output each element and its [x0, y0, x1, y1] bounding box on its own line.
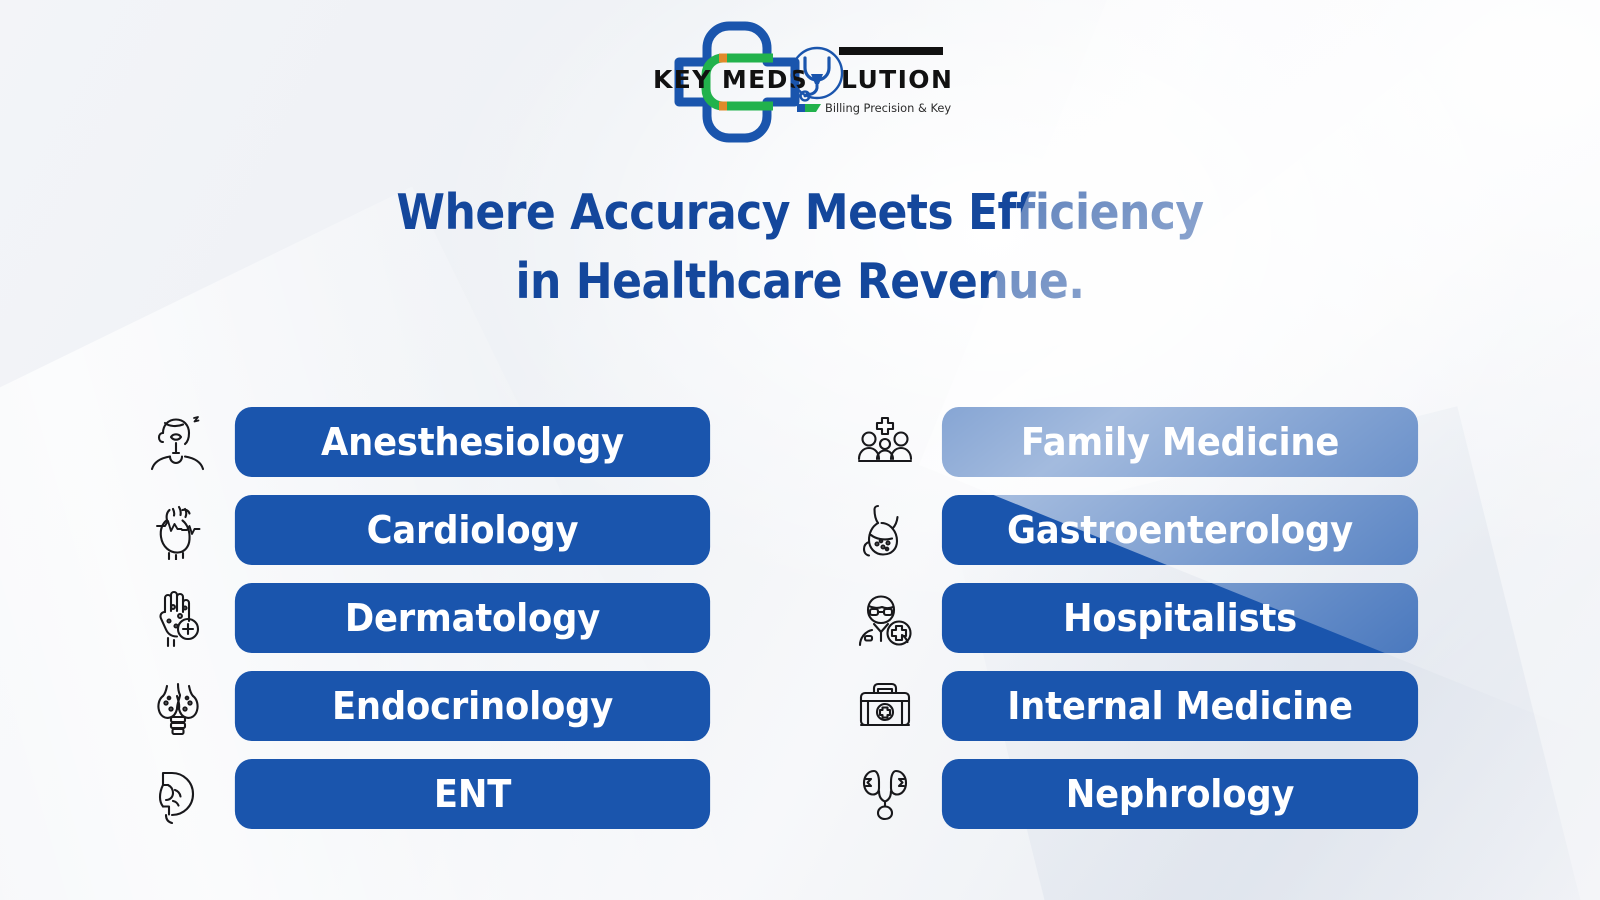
anesthesia-mask-patient-icon — [138, 406, 217, 478]
headline-line-1: Where Accuracy Meets Efficiency — [396, 184, 1203, 241]
specialty-row[interactable]: Internal Medicine — [845, 662, 1600, 750]
logo-wordmark-2: LUTIONS — [841, 65, 955, 94]
specialty-row[interactable]: Nephrology — [845, 750, 1600, 838]
specialty-row[interactable]: Hospitalists — [845, 574, 1600, 662]
specialty-label: Endocrinology — [332, 684, 613, 728]
specialty-label: Internal Medicine — [1007, 684, 1353, 728]
specialty-label: Anesthesiology — [321, 420, 624, 464]
specialty-pill-endocrinology[interactable]: Endocrinology — [235, 671, 710, 741]
specialty-row[interactable]: Cardiology — [138, 486, 800, 574]
specialty-label: Family Medicine — [1021, 420, 1339, 464]
logo-accent-bar — [839, 47, 943, 55]
specialty-row[interactable]: Gastroenterology — [845, 486, 1600, 574]
specialty-row[interactable]: Endocrinology — [138, 662, 800, 750]
slide-background: KEY MEDS LUTIONS Billing Precision & Key… — [0, 0, 1600, 900]
specialty-pill-cardiology[interactable]: Cardiology — [235, 495, 710, 565]
headline-line-2: in Healthcare Revenue. — [80, 247, 1520, 316]
specialty-label: ENT — [434, 772, 511, 816]
specialty-pill-gastroenterology[interactable]: Gastroenterology — [942, 495, 1418, 565]
specialty-column-right: Family Medicine — [800, 398, 1600, 838]
specialty-column-left: Anesthesiology Cardiology — [0, 398, 800, 838]
specialty-pill-hospitalists[interactable]: Hospitalists — [942, 583, 1418, 653]
ear-nose-throat-head-icon — [138, 758, 217, 830]
specialty-label: Nephrology — [1066, 772, 1295, 816]
heart-anatomy-icon — [138, 494, 217, 566]
doctor-medical-cross-icon — [845, 582, 924, 654]
logo-graphic: KEY MEDS LUTIONS Billing Precision & Key… — [645, 8, 955, 156]
kidneys-icon — [845, 758, 924, 830]
specialty-row[interactable]: Family Medicine — [845, 398, 1600, 486]
specialty-label: Gastroenterology — [1007, 508, 1353, 552]
specialty-grid: Anesthesiology Cardiology — [0, 398, 1600, 838]
logo-wordmark-1: KEY MEDS — [653, 65, 808, 94]
specialty-row[interactable]: Anesthesiology — [138, 398, 800, 486]
specialty-pill-anesthesiology[interactable]: Anesthesiology — [235, 407, 710, 477]
family-group-plus-icon — [845, 406, 924, 478]
specialty-pill-family-medicine[interactable]: Family Medicine — [942, 407, 1418, 477]
specialty-row[interactable]: ENT — [138, 750, 800, 838]
specialty-label: Hospitalists — [1063, 596, 1297, 640]
stomach-icon — [845, 494, 924, 566]
medical-bag-icon — [845, 670, 924, 742]
specialty-label: Cardiology — [367, 508, 579, 552]
specialty-pill-internal-medicine[interactable]: Internal Medicine — [942, 671, 1418, 741]
brand-logo: KEY MEDS LUTIONS Billing Precision & Key… — [0, 8, 1600, 156]
specialty-pill-dermatology[interactable]: Dermatology — [235, 583, 710, 653]
skin-hand-rash-icon — [138, 582, 217, 654]
thyroid-gland-icon — [138, 670, 217, 742]
specialty-pill-ent[interactable]: ENT — [235, 759, 710, 829]
medical-cross-stethoscope-logo-icon: KEY MEDS LUTIONS Billing Precision & Key… — [645, 8, 955, 156]
page-title: Where Accuracy Meets Efficiency in Healt… — [80, 178, 1520, 316]
specialty-label: Dermatology — [345, 596, 600, 640]
specialty-pill-nephrology[interactable]: Nephrology — [942, 759, 1418, 829]
specialty-row[interactable]: Dermatology — [138, 574, 800, 662]
logo-tagline: Billing Precision & Key Placement — [825, 101, 955, 115]
